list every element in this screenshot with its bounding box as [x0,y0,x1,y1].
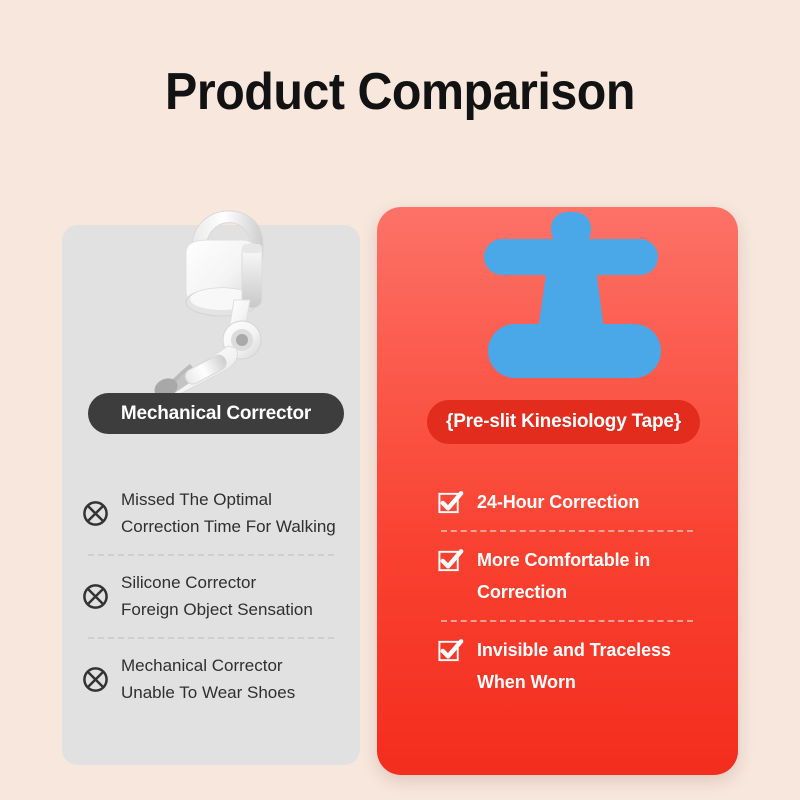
list-item: Mechanical Corrector Unable To Wear Shoe… [82,652,350,706]
list-divider [88,554,334,556]
feature-line-1: Mechanical Corrector [121,652,295,679]
feature-line-1: More Comfortable in [477,544,650,576]
feature-line-1: 24-Hour Correction [477,486,639,518]
feature-line-2: Correction Time For Walking [121,513,336,540]
list-divider [441,530,693,532]
feature-line-1: Missed The Optimal [121,486,336,513]
x-circle-icon [82,583,109,610]
kinesiology-tape-image [478,212,673,390]
list-divider [88,637,334,639]
list-item-text: 24-Hour Correction [477,486,639,518]
list-item: Invisible and Traceless When Worn [437,634,707,698]
feature-line-2: Correction [477,576,650,608]
feature-line-1: Invisible and Traceless [477,634,671,666]
list-item: Missed The Optimal Correction Time For W… [82,486,350,540]
feature-line-1: Silicone Corrector [121,569,313,596]
list-item-text: More Comfortable in Correction [477,544,650,608]
right-product-label[interactable]: {Pre-slit Kinesiology Tape} [427,400,700,444]
list-item: More Comfortable in Correction [437,544,707,608]
x-circle-icon [82,666,109,693]
right-feature-list: 24-Hour Correction More Comfortable in C… [437,486,707,698]
left-product-label[interactable]: Mechanical Corrector [88,393,344,434]
feature-line-2: Unable To Wear Shoes [121,679,295,706]
product-comparison-page: Product Comparison [0,0,800,800]
left-feature-list: Missed The Optimal Correction Time For W… [82,486,350,706]
feature-line-2: Foreign Object Sensation [121,596,313,623]
x-circle-icon [82,500,109,527]
page-title: Product Comparison [28,62,772,122]
list-divider [441,620,693,622]
list-item-text: Silicone Corrector Foreign Object Sensat… [121,569,313,623]
check-box-icon [437,489,464,516]
list-item: Silicone Corrector Foreign Object Sensat… [82,569,350,623]
list-item-text: Invisible and Traceless When Worn [477,634,671,698]
mechanical-corrector-image [130,196,305,396]
list-item-text: Missed The Optimal Correction Time For W… [121,486,336,540]
check-box-icon [437,547,464,574]
feature-line-2: When Worn [477,666,671,698]
list-item-text: Mechanical Corrector Unable To Wear Shoe… [121,652,295,706]
check-box-icon [437,637,464,664]
list-item: 24-Hour Correction [437,486,707,518]
